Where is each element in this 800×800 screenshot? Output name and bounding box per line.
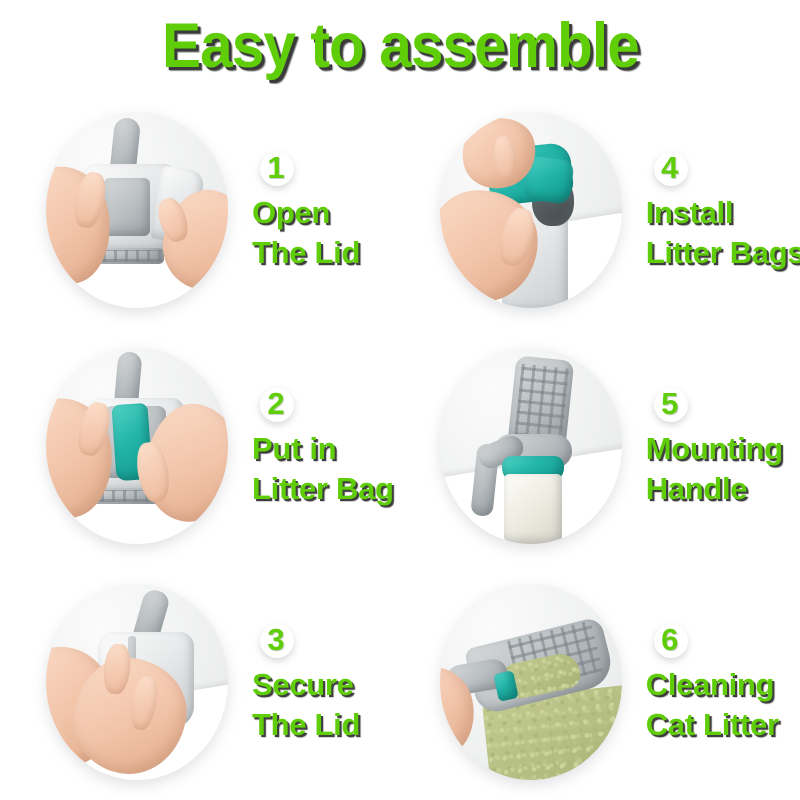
step-card-2: 2 Put in Litter Bag <box>0 328 394 564</box>
page-title: Easy to assemble <box>162 15 639 78</box>
step-text-3: 3 Secure The Lid <box>252 619 394 744</box>
step-card-5: 5 Mounting Handle <box>394 328 800 564</box>
step-text-4: 4 Install Litter Bags <box>646 147 800 272</box>
step-card-6: 6 Cleaning Cat Litter <box>394 564 800 800</box>
step-label-line2: Cat Litter <box>646 705 779 745</box>
step-label-line1: Secure <box>252 665 354 705</box>
step-number-badge-6: 6 <box>650 619 690 659</box>
step-label-line1: Install <box>646 193 733 233</box>
scoop-inner-slot <box>104 178 150 236</box>
step-number: 1 <box>267 152 284 183</box>
step-label-line2: The Lid <box>252 233 360 273</box>
step-number-badge-4: 4 <box>650 147 690 187</box>
step-photo-install-litter-bags <box>440 112 622 308</box>
steps-grid: 1 Open The Lid 4 Install Litter Bags <box>0 92 800 800</box>
step-text-5: 5 Mounting Handle <box>646 383 800 508</box>
step-number-badge-1: 1 <box>256 147 296 187</box>
step-number-badge-5: 5 <box>650 383 690 423</box>
step-number: 2 <box>267 388 284 419</box>
step-label-line2: The Lid <box>252 705 360 745</box>
step-label-line2: Handle <box>646 469 748 509</box>
step-number-badge-3: 3 <box>256 619 296 659</box>
step-number-badge-2: 2 <box>256 383 296 423</box>
step-label-line2: Litter Bag <box>252 469 394 509</box>
step-label-line1: Put in <box>252 429 336 469</box>
title-bar: Easy to assemble <box>0 0 800 92</box>
step-label-line1: Open <box>252 193 330 233</box>
step-number: 5 <box>661 388 678 419</box>
step-number: 4 <box>661 152 678 183</box>
step-text-1: 1 Open The Lid <box>252 147 394 272</box>
step-card-3: 3 Secure The Lid <box>0 564 394 800</box>
step-label-line1: Cleaning <box>646 665 775 705</box>
step-label-line2: Litter Bags <box>646 233 800 273</box>
step-photo-cleaning-cat-litter <box>440 584 622 780</box>
step-text-6: 6 Cleaning Cat Litter <box>646 619 800 744</box>
step-label-line1: Mounting <box>646 429 783 469</box>
step-card-1: 1 Open The Lid <box>0 92 394 328</box>
step-number: 6 <box>661 624 678 655</box>
step-number: 3 <box>267 624 284 655</box>
scoop-blade-slots <box>514 364 569 441</box>
step-photo-mounting-handle <box>440 348 622 544</box>
step-photo-put-in-litter-bag <box>46 348 228 544</box>
white-cylinder <box>504 474 562 544</box>
step-text-2: 2 Put in Litter Bag <box>252 383 394 508</box>
step-photo-open-the-lid <box>46 112 228 308</box>
step-card-4: 4 Install Litter Bags <box>394 92 800 328</box>
step-photo-secure-the-lid <box>46 584 228 780</box>
